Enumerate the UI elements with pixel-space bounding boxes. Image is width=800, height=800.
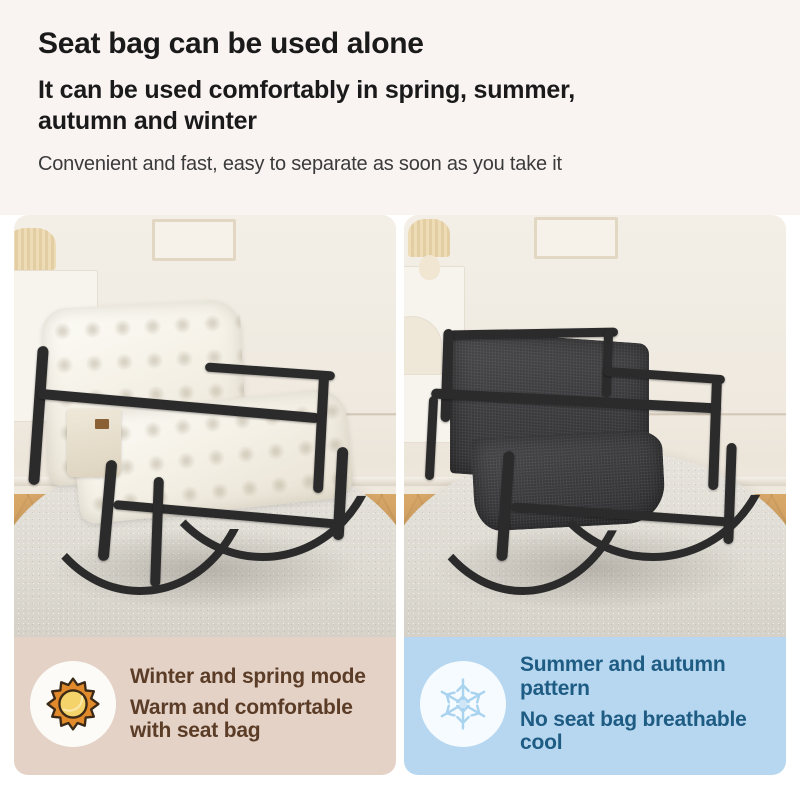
snowflake-badge: [420, 661, 506, 747]
rocking-chair-mesh: [404, 215, 786, 637]
caption-text-summer-autumn: Summer and autumn pattern No seat bag br…: [520, 653, 772, 756]
frame-top-rail: [450, 327, 618, 339]
caption-text-winter-spring: Winter and spring mode Warm and comforta…: [130, 665, 382, 744]
page-title: Seat bag can be used alone: [38, 26, 762, 63]
page-note: Convenient and fast, easy to separate as…: [38, 152, 762, 176]
caption-summer-autumn: Summer and autumn pattern No seat bag br…: [404, 637, 786, 775]
product-photo-with-cushion: [14, 215, 396, 637]
rocking-chair-cushioned: [14, 215, 396, 637]
panel-winter-spring[interactable]: Winter and spring mode Warm and comforta…: [14, 215, 396, 775]
caption-line-2: No seat bag breathable cool: [520, 708, 772, 756]
caption-line-2: Warm and comfortable with seat bag: [130, 696, 382, 744]
caption-line-1: Winter and spring mode: [130, 665, 382, 689]
caption-line-1: Summer and autumn pattern: [520, 653, 772, 701]
panel-summer-autumn[interactable]: Summer and autumn pattern No seat bag br…: [404, 215, 786, 775]
brand-tag: [95, 419, 109, 430]
snowflake-icon: [433, 674, 493, 734]
product-photo-mesh-only: [404, 215, 786, 637]
sun-icon: [44, 675, 102, 733]
caption-winter-spring: Winter and spring mode Warm and comforta…: [14, 637, 396, 775]
comparison-panels: Winter and spring mode Warm and comforta…: [0, 215, 800, 775]
sun-badge: [30, 661, 116, 747]
header-band: Seat bag can be used alone It can be use…: [0, 0, 800, 215]
page-subtitle: It can be used comfortably in spring, su…: [38, 75, 598, 138]
